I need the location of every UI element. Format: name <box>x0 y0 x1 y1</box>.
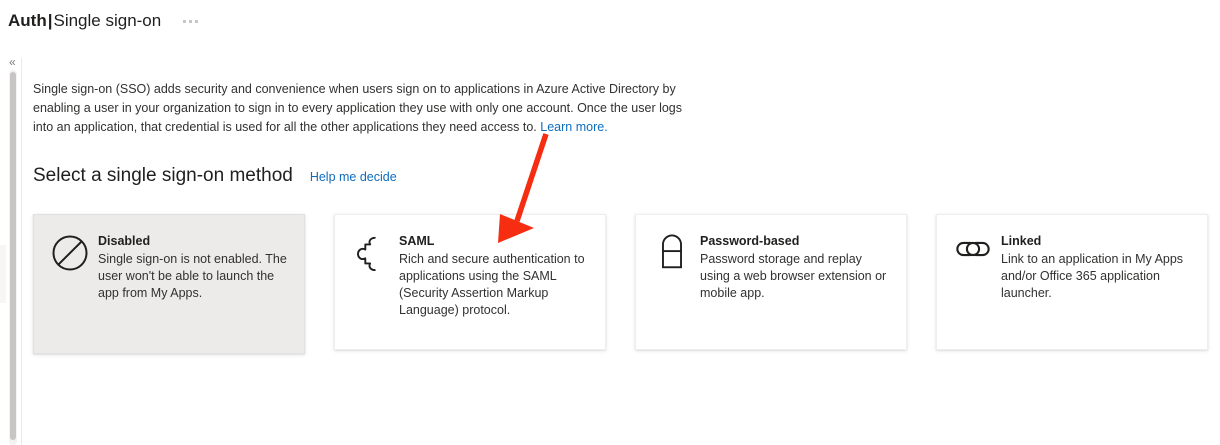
title-bar: Auth|Single sign-on <box>0 0 1220 42</box>
help-me-decide-link[interactable]: Help me decide <box>310 170 397 184</box>
card-title: Disabled <box>98 233 288 250</box>
card-description: Single sign-on is not enabled. The user … <box>98 251 288 302</box>
card-body: Disabled Single sign-on is not enabled. … <box>94 229 288 339</box>
section-header: Select a single sign-on method Help me d… <box>33 164 397 188</box>
ellipsis-dot <box>183 20 186 23</box>
sso-method-card-disabled[interactable]: Disabled Single sign-on is not enabled. … <box>33 214 305 354</box>
card-title: Linked <box>1001 233 1191 250</box>
card-description: Rich and secure authentication to applic… <box>399 251 589 319</box>
sso-method-card-password-based[interactable]: Password-based Password storage and repl… <box>635 214 907 350</box>
card-description: Link to an application in My Apps and/or… <box>1001 251 1191 302</box>
intro-paragraph: Single sign-on (SSO) adds security and c… <box>33 80 693 137</box>
ellipsis-dot <box>189 20 192 23</box>
sso-method-cards: Disabled Single sign-on is not enabled. … <box>33 214 1211 354</box>
no-entry-icon <box>46 229 94 339</box>
card-body: Password-based Password storage and repl… <box>696 229 890 335</box>
sso-method-card-linked[interactable]: Linked Link to an application in My Apps… <box>936 214 1208 350</box>
padlock-icon <box>648 229 696 335</box>
main-content: Single sign-on (SSO) adds security and c… <box>33 58 1220 445</box>
card-title: SAML <box>399 233 589 250</box>
page-title-app: Auth <box>8 11 47 30</box>
ellipsis-dot <box>195 20 198 23</box>
collapse-blade-icon[interactable]: « <box>9 56 16 68</box>
card-body: SAML Rich and secure authentication to a… <box>395 229 589 335</box>
page-title-section: Single sign-on <box>53 11 161 30</box>
sso-method-card-saml[interactable]: SAML Rich and secure authentication to a… <box>334 214 606 350</box>
scrollbar-thumb[interactable] <box>10 72 16 440</box>
page-title: Auth|Single sign-on <box>8 11 161 31</box>
more-options-icon[interactable] <box>179 14 202 29</box>
puzzle-piece-icon <box>347 229 395 335</box>
card-body: Linked Link to an application in My Apps… <box>997 229 1191 335</box>
vertical-scrollbar[interactable] <box>9 70 17 445</box>
blade-edge-marker <box>0 245 6 303</box>
chain-link-icon <box>949 229 997 335</box>
learn-more-link[interactable]: Learn more. <box>540 120 607 134</box>
card-title: Password-based <box>700 233 890 250</box>
card-description: Password storage and replay using a web … <box>700 251 890 302</box>
blade-divider <box>21 58 22 445</box>
section-title: Select a single sign-on method <box>33 164 293 188</box>
